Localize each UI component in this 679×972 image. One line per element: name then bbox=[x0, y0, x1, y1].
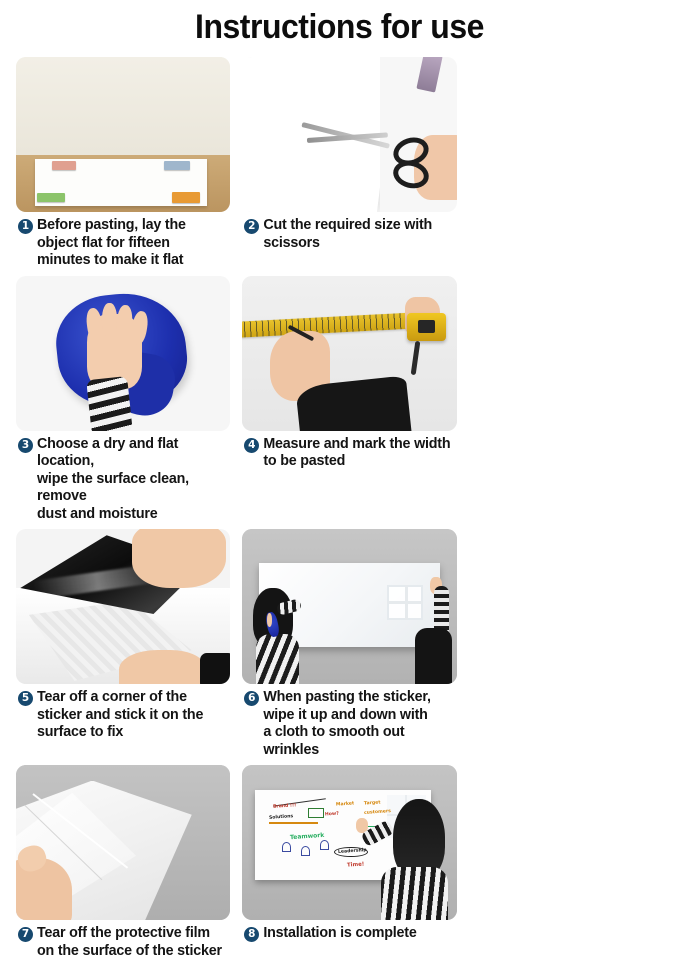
book-pink bbox=[52, 161, 76, 170]
step-7-caption: 7 Tear off the protective film on the su… bbox=[16, 925, 230, 960]
whiteboard-note-brand: Brand !!! bbox=[273, 803, 297, 810]
step-2-caption: 2 Cut the required size with scissors bbox=[242, 217, 456, 252]
striped-torso bbox=[256, 634, 300, 684]
step-8-caption: 8 Installation is complete bbox=[242, 925, 456, 943]
step-card-2: 2 Cut the required size with scissors bbox=[242, 57, 456, 270]
page-title: Instructions for use bbox=[20, 0, 658, 47]
step-6-photo bbox=[242, 529, 456, 684]
wall-background bbox=[16, 57, 230, 155]
step-card-3: 3 Choose a dry and flat location, wipe t… bbox=[16, 276, 230, 524]
person-left bbox=[253, 588, 317, 684]
step-6-caption: 6 When pasting the sticker, wipe it up a… bbox=[242, 689, 456, 759]
drawn-cart bbox=[308, 808, 324, 818]
drawn-stick-figure bbox=[320, 840, 329, 850]
person-writing bbox=[375, 799, 448, 920]
step-number-badge: 5 bbox=[18, 691, 33, 706]
tape-measure-case bbox=[407, 313, 446, 341]
hand-top bbox=[132, 529, 226, 588]
striped-sleeve bbox=[86, 376, 132, 431]
step-text: Choose a dry and flat location, wipe the… bbox=[37, 436, 230, 524]
step-card-4: 4 Measure and mark the width to be paste… bbox=[242, 276, 456, 524]
step-1-photo bbox=[16, 57, 230, 212]
whiteboard-note-market: Market bbox=[336, 802, 354, 808]
drawn-stick-figure bbox=[301, 846, 310, 856]
book-green bbox=[37, 193, 65, 202]
step-5-photo bbox=[16, 529, 230, 684]
step-text: Before pasting, lay the object flat for … bbox=[37, 217, 186, 270]
step-number-badge: 7 bbox=[18, 927, 33, 942]
step-card-7: 7 Tear off the protective film on the su… bbox=[16, 765, 230, 960]
book-blue bbox=[164, 161, 190, 170]
step-number-badge: 4 bbox=[244, 438, 259, 453]
step-2-photo bbox=[242, 57, 456, 212]
book-orange bbox=[172, 192, 200, 203]
step-number-badge: 2 bbox=[244, 219, 259, 234]
step-card-8: Brand !!! Solutions How? Market Target c… bbox=[242, 765, 456, 960]
step-text: Tear off a corner of the sticker and sti… bbox=[37, 689, 203, 742]
steps-grid: 1 Before pasting, lay the object flat fo… bbox=[0, 57, 679, 972]
drawn-stick-figure bbox=[282, 842, 291, 852]
striped-torso bbox=[381, 867, 448, 920]
step-number-badge: 1 bbox=[18, 219, 33, 234]
step-number-badge: 8 bbox=[244, 927, 259, 942]
finger bbox=[102, 303, 117, 337]
step-text: Measure and mark the width to be pasted bbox=[263, 436, 450, 471]
step-text: Cut the required size with scissors bbox=[263, 217, 432, 252]
whiteboard-note-teamwork: Teamwork bbox=[290, 832, 325, 841]
step-number-badge: 3 bbox=[18, 438, 33, 453]
torso bbox=[415, 628, 453, 684]
step-card-6: 6 When pasting the sticker, wipe it up a… bbox=[242, 529, 456, 759]
hand-bottom bbox=[119, 650, 205, 684]
step-7-photo bbox=[16, 765, 230, 920]
step-4-photo bbox=[242, 276, 456, 431]
step-1-caption: 1 Before pasting, lay the object flat fo… bbox=[16, 217, 230, 270]
step-number-badge: 6 bbox=[244, 691, 259, 706]
step-3-photo bbox=[16, 276, 230, 431]
step-text: Tear off the protective film on the surf… bbox=[37, 925, 222, 960]
step-card-1: 1 Before pasting, lay the object flat fo… bbox=[16, 57, 230, 270]
step-3-caption: 3 Choose a dry and flat location, wipe t… bbox=[16, 436, 230, 524]
step-4-caption: 4 Measure and mark the width to be paste… bbox=[242, 436, 456, 471]
whiteboard-note-solutions: Solutions bbox=[269, 814, 294, 821]
instructions-page: Instructions for use 1 Before pasting, l… bbox=[0, 0, 679, 723]
step-text: Installation is complete bbox=[263, 925, 416, 943]
person-right bbox=[405, 572, 452, 684]
step-8-photo: Brand !!! Solutions How? Market Target c… bbox=[242, 765, 456, 920]
whiteboard-note-time: Time! bbox=[346, 861, 364, 868]
step-5-caption: 5 Tear off a corner of the sticker and s… bbox=[16, 689, 230, 742]
sleeve-cuff bbox=[200, 653, 230, 684]
drawn-arrow bbox=[269, 822, 318, 824]
step-card-5: 5 Tear off a corner of the sticker and s… bbox=[16, 529, 230, 759]
whiteboard-note-how: How? bbox=[325, 812, 339, 818]
step-text: When pasting the sticker, wipe it up and… bbox=[263, 689, 430, 759]
